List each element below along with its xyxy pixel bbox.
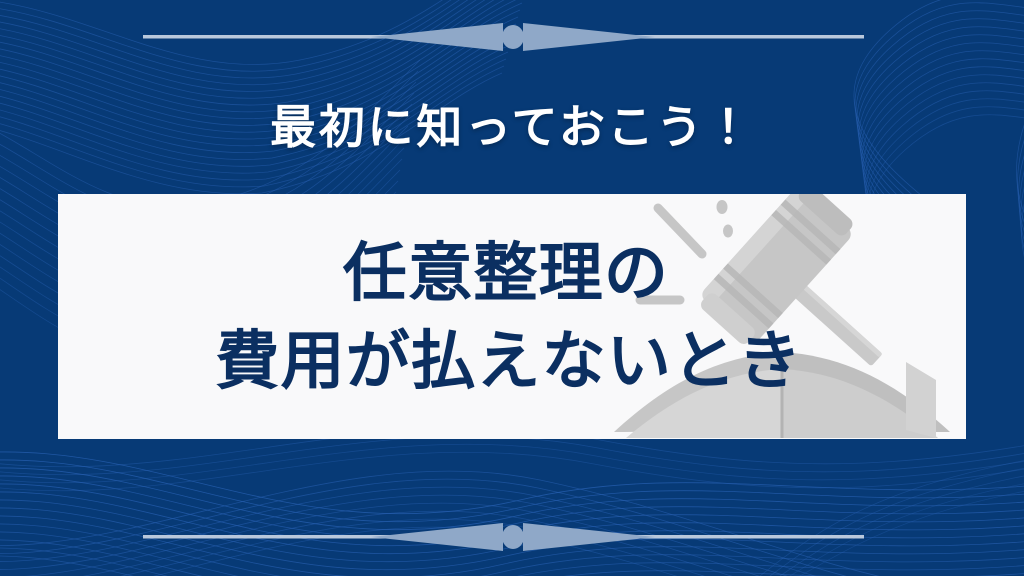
divider-center-dot bbox=[502, 25, 524, 49]
divider-arrow-left bbox=[371, 523, 503, 551]
headline-line-2: 費用が払えないとき bbox=[215, 318, 803, 404]
slide-canvas: 最初に知っておこう！ bbox=[0, 0, 1024, 576]
headline-line-1: 任意整理の bbox=[343, 230, 669, 316]
top-divider-ornament bbox=[0, 14, 1024, 62]
headline-panel: 任意整理の 費用が払えないとき bbox=[58, 194, 966, 439]
divider-arrow-right bbox=[523, 23, 655, 51]
divider-center-dot bbox=[502, 525, 524, 549]
divider-arrow-left bbox=[371, 23, 503, 51]
headline-text-group: 任意整理の 費用が払えないとき bbox=[58, 194, 966, 439]
eyebrow-text: 最初に知っておこう！ bbox=[0, 96, 1024, 158]
bottom-divider-ornament bbox=[0, 514, 1024, 562]
divider-arrow-right bbox=[523, 523, 655, 551]
